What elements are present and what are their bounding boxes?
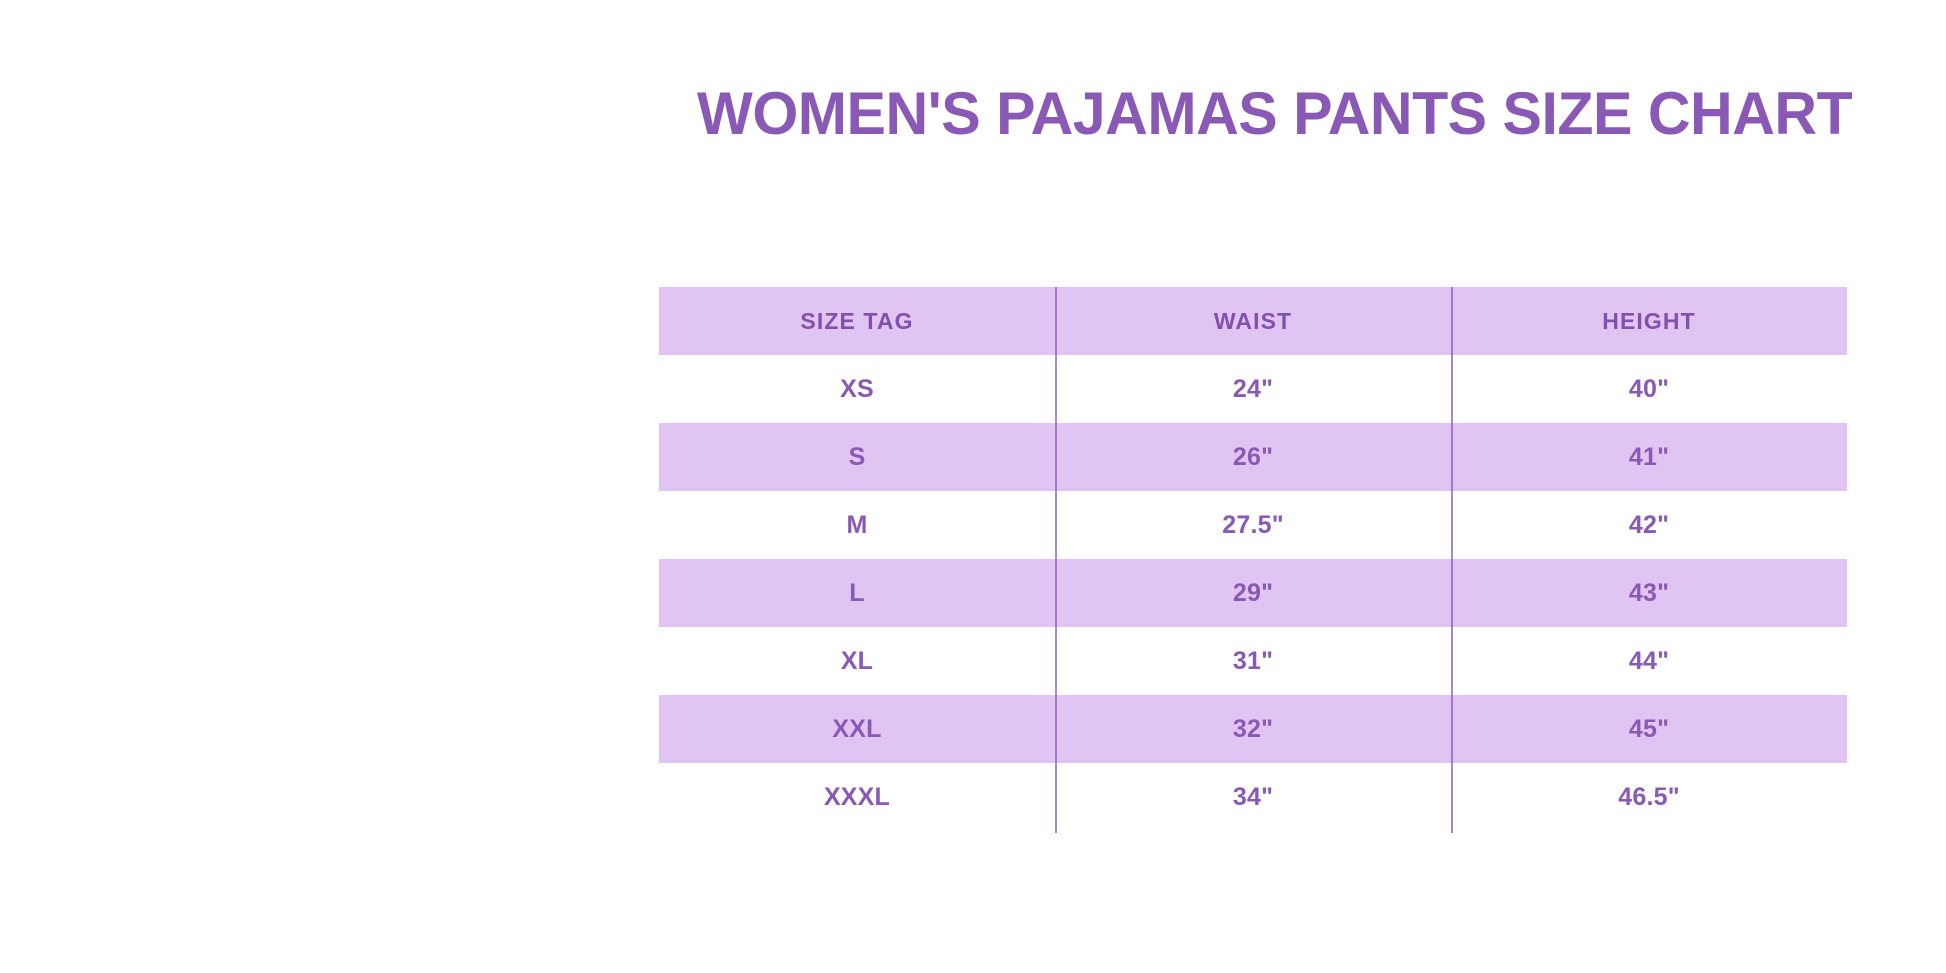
cell-height: 40"	[1451, 355, 1847, 423]
cell-height: 46.5"	[1451, 763, 1847, 831]
table-header: SIZE TAG WAIST HEIGHT	[659, 287, 1847, 355]
cell-size-tag: XS	[659, 355, 1055, 423]
page-title: WOMEN'S PAJAMAS PANTS SIZE CHART	[659, 82, 1890, 145]
size-chart-table: SIZE TAG WAIST HEIGHT XS 24" 40" S 26" 4…	[659, 287, 1847, 831]
column-header-size-tag: SIZE TAG	[659, 287, 1055, 355]
table-row: XXXL 34" 46.5"	[659, 763, 1847, 831]
size-chart-table-container: SIZE TAG WAIST HEIGHT XS 24" 40" S 26" 4…	[659, 287, 1847, 831]
cell-waist: 31"	[1055, 627, 1451, 695]
cell-height: 43"	[1451, 559, 1847, 627]
cell-waist: 26"	[1055, 423, 1451, 491]
cell-height: 42"	[1451, 491, 1847, 559]
table-row: XXL 32" 45"	[659, 695, 1847, 763]
table-row: XL 31" 44"	[659, 627, 1847, 695]
cell-waist: 32"	[1055, 695, 1451, 763]
table-row: XS 24" 40"	[659, 355, 1847, 423]
table-body: XS 24" 40" S 26" 41" M 27.5" 42" L 29"	[659, 355, 1847, 831]
cell-height: 41"	[1451, 423, 1847, 491]
cell-waist: 29"	[1055, 559, 1451, 627]
cell-waist: 27.5"	[1055, 491, 1451, 559]
cell-size-tag: XXL	[659, 695, 1055, 763]
cell-size-tag: S	[659, 423, 1055, 491]
table-row: S 26" 41"	[659, 423, 1847, 491]
table-row: L 29" 43"	[659, 559, 1847, 627]
cell-size-tag: XL	[659, 627, 1055, 695]
cell-size-tag: M	[659, 491, 1055, 559]
cell-height: 44"	[1451, 627, 1847, 695]
cell-size-tag: XXXL	[659, 763, 1055, 831]
cell-waist: 34"	[1055, 763, 1451, 831]
cell-size-tag: L	[659, 559, 1055, 627]
column-header-waist: WAIST	[1055, 287, 1451, 355]
column-header-height: HEIGHT	[1451, 287, 1847, 355]
cell-waist: 24"	[1055, 355, 1451, 423]
cell-height: 45"	[1451, 695, 1847, 763]
table-header-row: SIZE TAG WAIST HEIGHT	[659, 287, 1847, 355]
table-row: M 27.5" 42"	[659, 491, 1847, 559]
size-chart-page: WOMEN'S PAJAMAS PANTS SIZE CHART SIZE TA…	[0, 0, 1946, 973]
